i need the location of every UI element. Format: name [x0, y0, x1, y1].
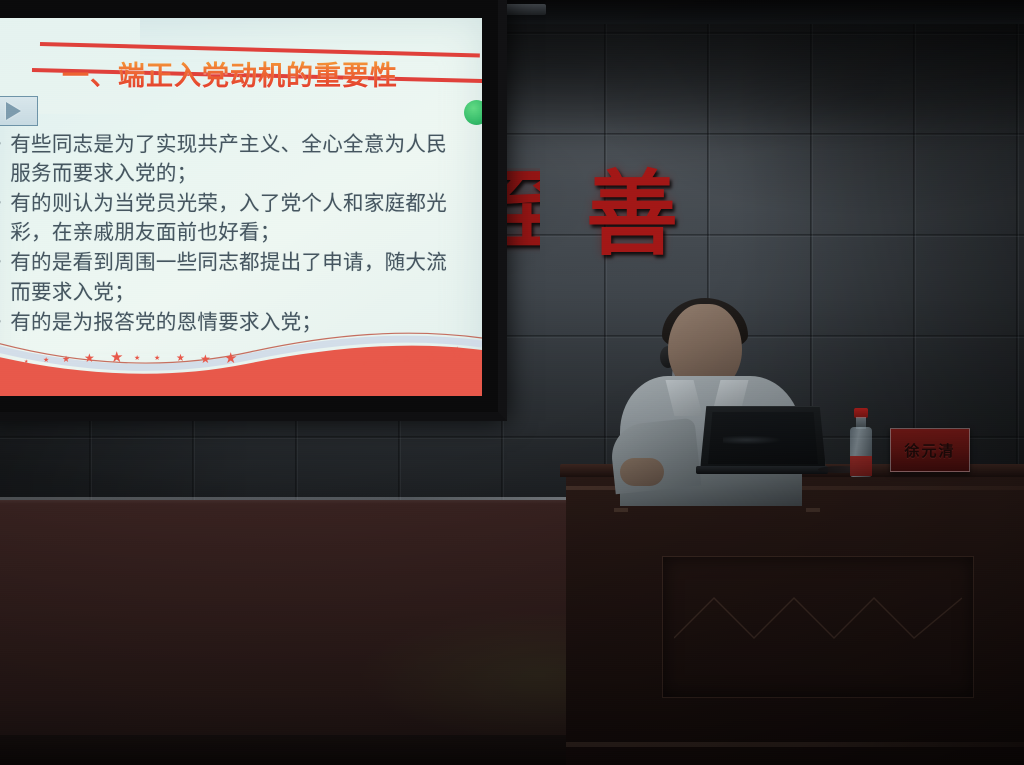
- bullet-text: 有的是看到周围一些同志都提出了申请，随大流而要求入党；: [10, 248, 464, 306]
- star-icon: ★: [402, 355, 411, 365]
- list-item: • 有的是看到周围一些同志都提出了申请，随大流而要求入党；: [0, 248, 464, 306]
- nameplate-text: 徐元清: [904, 440, 955, 461]
- play-triangle-icon: [6, 102, 21, 120]
- list-item: • 有的则认为当党员光荣，入了党个人和家庭都光彩，在亲戚朋友面前也好看；: [0, 189, 464, 247]
- slide-bullet-list: • 有些同志是为了实现共产主义、全心全意为人民服务而要求入党的； • 有的则认为…: [0, 130, 464, 338]
- bullet-text: 有些同志是为了实现共产主义、全心全意为人民服务而要求入党的；: [10, 130, 464, 188]
- green-circle-marker: [464, 100, 482, 125]
- star-icon: ★: [200, 353, 211, 365]
- podium-base-molding: [566, 742, 1024, 747]
- list-item: • 有些同志是为了实现共产主义、全心全意为人民服务而要求入党的；: [0, 130, 464, 188]
- star-icon: ★: [426, 351, 438, 364]
- bullet-marker: •: [0, 189, 3, 247]
- presentation-slide: ☭ 一、端正入党动机的重要性 • 有些同志是为了实现共产主义、全心全意为人民服务…: [0, 18, 482, 396]
- star-icon: ★: [134, 355, 140, 362]
- star-icon: ★: [224, 351, 237, 366]
- podium-zigzag-carving: [674, 590, 962, 656]
- projection-screen-frame: ☭ 一、端正入党动机的重要性 • 有些同志是为了实现共产主义、全心全意为人民服务…: [0, 0, 507, 421]
- slide-title: 一、端正入党动机的重要性: [62, 54, 398, 93]
- presenter-hand: [620, 458, 664, 486]
- wall-calligraphy: 至 善: [484, 168, 678, 260]
- play-button-icon[interactable]: [0, 96, 38, 126]
- slide-footer-wave-band: ★★★★★★★★★★★★★★★: [0, 324, 482, 396]
- star-icon: ★: [62, 355, 70, 364]
- laptop-base: [696, 466, 828, 474]
- star-icon: ★: [110, 350, 123, 365]
- star-icon: ★: [43, 357, 49, 364]
- podium-handle-right[interactable]: [806, 508, 820, 512]
- star-icon: ★: [382, 359, 388, 366]
- laptop-screen-glow: [723, 435, 801, 445]
- speaker-podium: [566, 472, 1024, 765]
- podium-handle-left[interactable]: [614, 508, 628, 512]
- lecture-hall-photo: 至 善 ☭ 一、端正入党动机的重要性: [0, 0, 1024, 765]
- laptop-lid: [700, 406, 826, 470]
- star-icon: ★: [24, 360, 28, 365]
- star-icon: ★: [84, 352, 95, 364]
- bullet-text: 有的则认为当党员光荣，入了党个人和家庭都光彩，在亲戚朋友面前也好看；: [10, 189, 464, 247]
- calligraphy-char-2: 善: [586, 168, 678, 260]
- nameplate: 徐元清: [890, 428, 970, 472]
- footer-stars: ★★★★★★★★★★★★★★★: [0, 324, 482, 396]
- water-bottle[interactable]: [850, 408, 872, 476]
- star-icon: ★: [154, 355, 160, 362]
- star-icon: ★: [362, 362, 366, 367]
- laptop[interactable]: [700, 406, 824, 472]
- star-icon: ★: [176, 354, 185, 364]
- bullet-marker: •: [0, 248, 3, 306]
- bottle-label: [850, 456, 872, 476]
- bullet-marker: •: [0, 130, 3, 188]
- star-icon: ★: [450, 346, 464, 362]
